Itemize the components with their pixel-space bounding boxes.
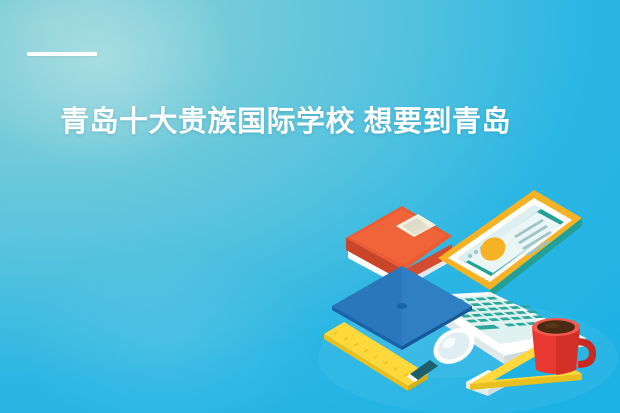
illustration-education-desk <box>318 188 620 413</box>
page-title: 青岛十大贵族国际学校 想要到青岛 <box>60 102 600 142</box>
promo-banner: 青岛十大贵族国际学校 想要到青岛 <box>0 0 620 413</box>
accent-dash <box>27 52 97 56</box>
